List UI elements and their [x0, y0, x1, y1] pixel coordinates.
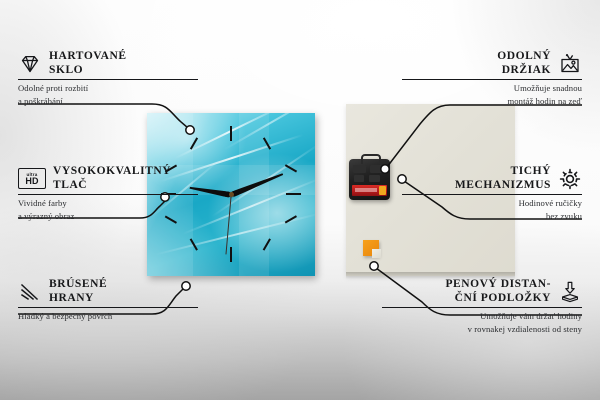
mechanism-hanger-clip [361, 154, 381, 164]
feature-title-line1: ODOLNÝ [497, 50, 551, 64]
tick-3 [286, 193, 301, 195]
feature-desc-line1: Odolné proti rozbití [18, 83, 198, 94]
foam-spacer-icon [558, 280, 582, 304]
diamond-icon [18, 52, 42, 76]
ultra-hd-icon: ultra HD [18, 168, 46, 189]
feature-title-line2: TLAČ [53, 179, 171, 193]
feature-desc-line1: Hodinové ručičky [402, 198, 582, 209]
feature-silent-mechanism: TICHÝ MECHANIZMUS Hodinové ručičky bez z… [402, 165, 582, 222]
feature-rule [18, 194, 198, 195]
feature-desc-line2: montáž hodin na zeď [402, 96, 582, 107]
feature-title-line1: PENOVÝ DISTAN- [445, 278, 551, 292]
feature-rule [18, 307, 198, 308]
feature-title-line2: ČNÍ PODLOŽKY [445, 292, 551, 306]
tick-12 [230, 126, 232, 141]
feature-title-line2: HRANY [49, 292, 107, 306]
feature-desc-line2: v rovnakej vzdialenosti od steny [382, 324, 582, 335]
feature-desc-line1: Umožňuje snadnou [402, 83, 582, 94]
infographic-canvas: HARTOVANÉ SKLO Odolné proti rozbití a po… [0, 0, 600, 400]
feature-title-line2: MECHANIZMUS [455, 179, 551, 193]
feature-desc-line2: a výrazný obraz [18, 211, 198, 222]
feature-desc-line2: bez zvuku [402, 211, 582, 222]
feature-title-line1: TICHÝ [455, 165, 551, 179]
feature-title-line2: SKLO [49, 64, 127, 78]
polished-edges-icon [18, 280, 42, 304]
battery [352, 185, 387, 196]
feature-desc-line1: Vividné farby [18, 198, 198, 209]
gear-icon [558, 167, 582, 191]
ultra-hd-icon-big-text: HD [25, 177, 38, 186]
picture-hanger-icon [558, 52, 582, 76]
feature-foam-spacers: PENOVÝ DISTAN- ČNÍ PODLOŽKY Umožňuje vám… [382, 278, 582, 335]
feature-rule [402, 194, 582, 195]
feature-rule [402, 79, 582, 80]
feature-tempered-glass: HARTOVANÉ SKLO Odolné proti rozbití a po… [18, 50, 198, 107]
feature-polished-edges: BRÚSENÉ HRANY Hladký a bezpečný povrch [18, 278, 198, 324]
feature-title-line1: BRÚSENÉ [49, 278, 107, 292]
feature-hq-print: ultra HD VYSOKOKVALITNÝ TLAČ Vividné far… [18, 165, 198, 222]
feature-title-line1: HARTOVANÉ [49, 50, 127, 64]
feature-durable-hanger: ODOLNÝ DRŽIAK Umožňuje snadnou montáž ho… [402, 50, 582, 107]
feature-desc-line1: Umožňuje vám držať hodiny [382, 311, 582, 322]
hands-center-pin [229, 192, 234, 197]
feature-desc-line1: Hladký a bezpečný povrch [18, 311, 198, 322]
feature-rule [18, 79, 198, 80]
feature-rule [382, 307, 582, 308]
feature-title-line2: DRŽIAK [497, 64, 551, 78]
feature-desc-line2: a poškrábání [18, 96, 198, 107]
tick-6 [230, 247, 232, 262]
feature-title-line1: VYSOKOKVALITNÝ [53, 165, 171, 179]
clock-mechanism [349, 159, 390, 200]
foam-spacer-pad [363, 240, 379, 256]
